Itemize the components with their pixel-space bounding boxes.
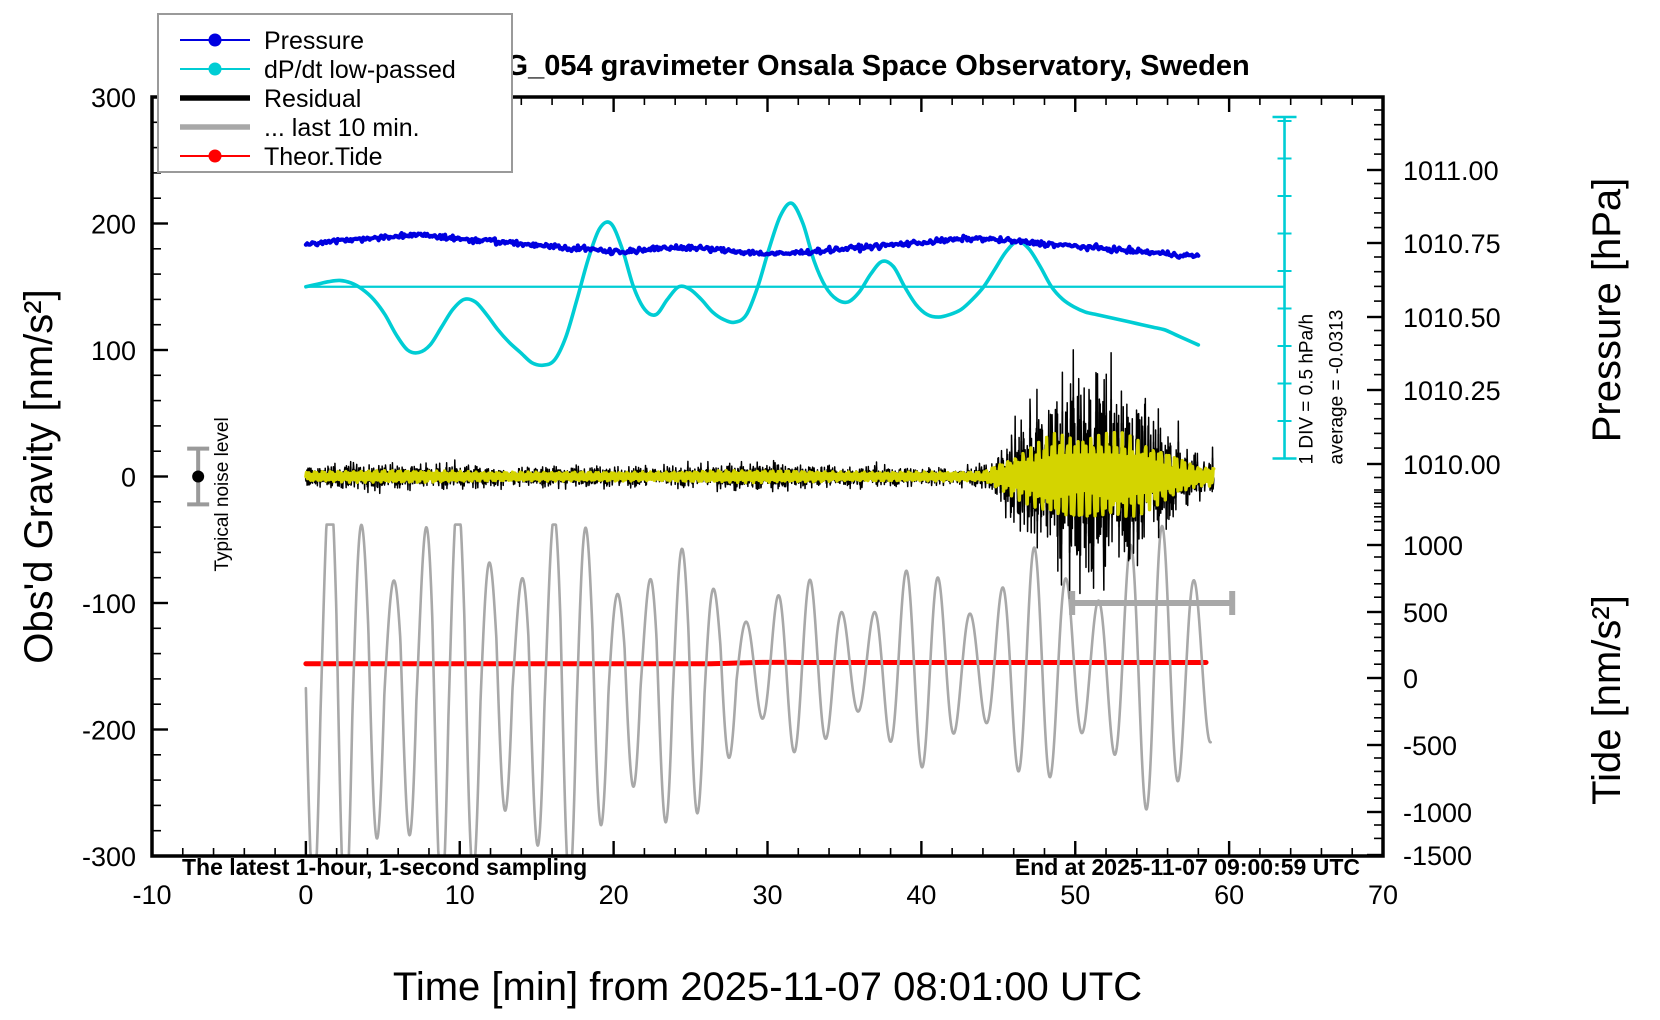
pressure-tick-label: 1011.00 [1403, 156, 1499, 186]
legend[interactable]: PressuredP/dt low-passedResidual... last… [158, 14, 512, 172]
tide-tick-label: -1000 [1403, 798, 1472, 828]
x-tick-label: 50 [1060, 880, 1090, 910]
legend-swatch-dot [209, 150, 222, 163]
tide-tick-label: 1000 [1403, 531, 1463, 561]
tide-tick-label: -500 [1403, 731, 1457, 761]
chart-title: SCG_054 gravimeter Onsala Space Observat… [465, 50, 1249, 82]
legend-swatch-dot [209, 63, 222, 76]
footer-right-note: End at 2025-11-07 09:00:59 UTC [1015, 854, 1360, 880]
gravimeter-plot: 1 DIV = 0.5 hPa/haverage = -0.0313Typica… [0, 0, 1660, 1020]
theor-tide-trace [306, 662, 1206, 663]
pressure-tick-label: 1010.00 [1403, 450, 1501, 480]
y-tick-label: -300 [82, 842, 136, 872]
pressure-tick-label: 1010.25 [1403, 376, 1501, 406]
legend-label: Residual [264, 85, 361, 113]
x-tick-label: 70 [1368, 880, 1398, 910]
tide-axis-title: Tide [nm/s²] [1585, 595, 1629, 805]
y-tick-label: -200 [82, 716, 136, 746]
pressure-tick-label: 1010.75 [1403, 229, 1501, 259]
y-tick-label: 100 [91, 336, 136, 366]
x-tick-label: 0 [298, 880, 313, 910]
x-tick-label: 60 [1214, 880, 1244, 910]
x-tick-label: 20 [599, 880, 629, 910]
gravimeter-chart-page: 1 DIV = 0.5 hPa/haverage = -0.0313Typica… [0, 0, 1660, 1020]
legend-label: Theor.Tide [264, 143, 383, 171]
pressure-axis-title: Pressure [hPa] [1585, 178, 1629, 443]
x-tick-label: -10 [132, 880, 171, 910]
typical-noise-level-label: Typical noise level [212, 417, 233, 571]
x-axis-title: Time [min] from 2025-11-07 08:01:00 UTC [393, 965, 1142, 1009]
noise-center-dot [192, 471, 204, 483]
scalebar-avg-label: average = -0.0313 [1327, 310, 1348, 465]
y-axis-title: Obs'd Gravity [nm/s²] [17, 289, 61, 663]
legend-label: Pressure [264, 27, 364, 55]
x-tick-label: 40 [906, 880, 936, 910]
tide-tick-label: -1500 [1403, 841, 1472, 871]
footer-left-note: The latest 1-hour, 1-second sampling [182, 854, 587, 880]
pressure-tick-label: 1010.50 [1403, 303, 1501, 333]
legend-label: dP/dt low-passed [264, 56, 456, 84]
y-tick-label: 300 [91, 83, 136, 113]
y-tick-label: 200 [91, 210, 136, 240]
legend-label: ... last 10 min. [264, 114, 420, 142]
tide-tick-label: 500 [1403, 598, 1448, 628]
y-tick-label: 0 [121, 463, 136, 493]
x-tick-label: 10 [445, 880, 475, 910]
legend-swatch-dot [209, 34, 222, 47]
scalebar-div-label: 1 DIV = 0.5 hPa/h [1297, 314, 1318, 465]
tide-tick-label: 0 [1403, 664, 1418, 694]
x-tick-label: 30 [752, 880, 782, 910]
y-tick-label: -100 [82, 589, 136, 619]
